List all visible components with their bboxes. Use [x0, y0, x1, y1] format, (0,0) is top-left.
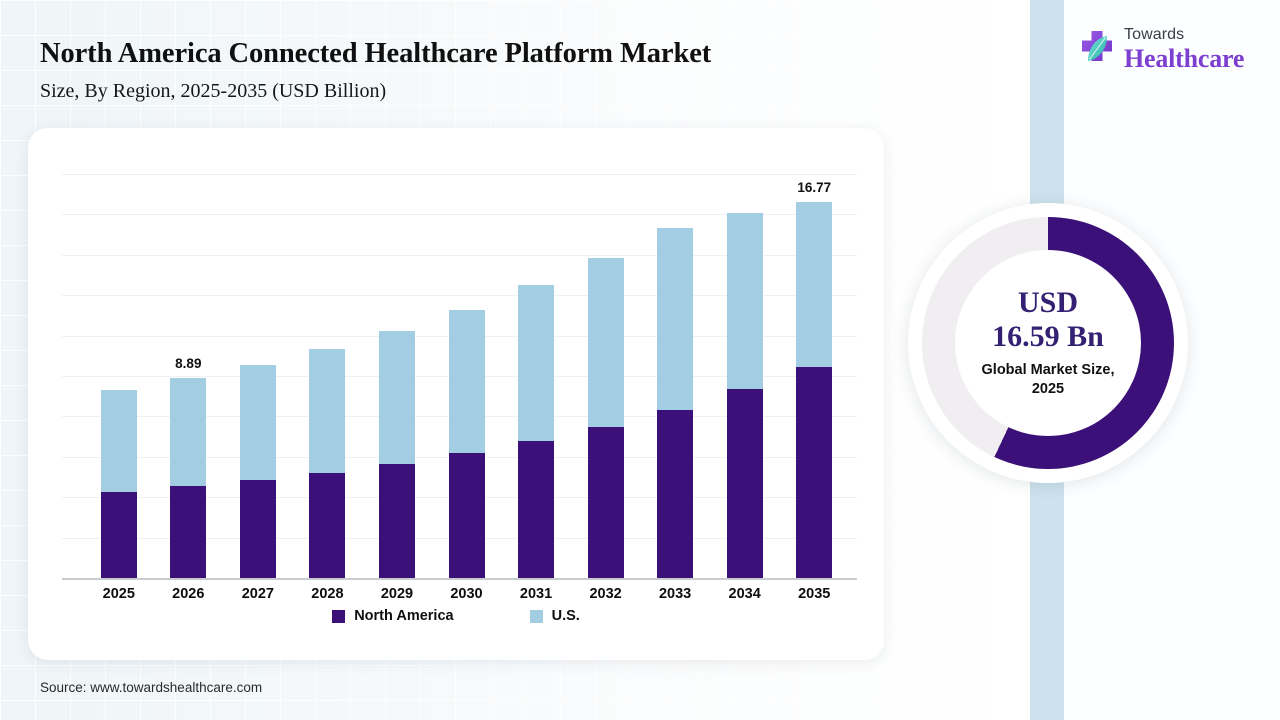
bar-segment-north-america[interactable] — [379, 464, 415, 578]
donut-value: 16.59 Bn — [992, 320, 1104, 355]
legend-item-north-america[interactable]: North America — [332, 608, 453, 624]
legend-swatch-icon — [530, 610, 543, 623]
bar-segment-us[interactable] — [657, 228, 693, 410]
bar-stack-2034[interactable] — [727, 213, 763, 578]
legend-label: U.S. — [552, 608, 580, 624]
bar-segment-us[interactable] — [101, 390, 137, 491]
legend-label: North America — [354, 608, 453, 624]
bar-segment-north-america[interactable] — [727, 389, 763, 578]
bar-segment-us[interactable] — [170, 378, 206, 486]
bar-segment-north-america[interactable] — [240, 480, 276, 578]
bar-stack-inner — [727, 213, 763, 578]
global-market-size-donut: USD 16.59 Bn Global Market Size, 2025 — [908, 203, 1188, 483]
donut-center-label: USD 16.59 Bn Global Market Size, 2025 — [955, 250, 1141, 436]
x-tick-2034: 2034 — [729, 586, 761, 602]
bar-segment-north-america[interactable] — [657, 410, 693, 578]
bar-stack-inner — [240, 365, 276, 578]
bar-stack-inner — [518, 285, 554, 578]
bar-segment-us[interactable] — [727, 213, 763, 389]
brand-logo: Towards Healthcare — [1074, 22, 1260, 78]
bar-segment-us[interactable] — [796, 202, 832, 367]
x-tick-2035: 2035 — [798, 586, 830, 602]
bar-segment-us[interactable] — [588, 258, 624, 426]
bar-stack-inner — [309, 349, 345, 578]
bar-segment-us[interactable] — [449, 310, 485, 454]
page-subtitle: Size, By Region, 2025-2035 (USD Billion) — [40, 80, 940, 103]
legend-swatch-icon — [332, 610, 345, 623]
logo-bottom-word: Healthcare — [1124, 45, 1244, 72]
bar-segment-north-america[interactable] — [518, 441, 554, 578]
bar-segment-north-america[interactable] — [170, 486, 206, 578]
bar-segment-us[interactable] — [309, 349, 345, 472]
logo-wordmark: Towards Healthcare — [1124, 27, 1244, 72]
bar-stack-2026[interactable]: 8.89 — [170, 378, 206, 578]
chart-legend: North AmericaU.S. — [28, 608, 884, 624]
x-axis-line — [62, 578, 857, 580]
x-tick-2030: 2030 — [450, 586, 482, 602]
bar-stack-2031[interactable] — [518, 285, 554, 578]
bar-stack-inner — [101, 390, 137, 578]
bar-stack-2030[interactable] — [449, 310, 485, 578]
bar-chart-plot-area: 8.8916.77 202520262027202820292030203120… — [62, 148, 857, 688]
x-tick-2029: 2029 — [381, 586, 413, 602]
donut-caption: Global Market Size, 2025 — [955, 361, 1141, 398]
gridline — [62, 174, 857, 175]
x-tick-2033: 2033 — [659, 586, 691, 602]
donut-currency: USD — [1018, 287, 1078, 319]
bar-value-label-2035: 16.77 — [797, 180, 831, 195]
x-tick-2025: 2025 — [103, 586, 135, 602]
source-note: Source: www.towardshealthcare.com — [40, 680, 262, 695]
x-tick-2028: 2028 — [311, 586, 343, 602]
bar-stack-inner — [170, 378, 206, 578]
x-tick-2027: 2027 — [242, 586, 274, 602]
bar-stack-inner — [657, 228, 693, 578]
chart-card: 8.8916.77 202520262027202820292030203120… — [28, 128, 884, 660]
bar-segment-us[interactable] — [379, 331, 415, 464]
bar-stack-inner — [379, 331, 415, 578]
bar-stack-inner — [796, 202, 832, 578]
bar-stack-2035[interactable]: 16.77 — [796, 202, 832, 578]
bar-stack-2032[interactable] — [588, 258, 624, 578]
bar-stack-2027[interactable] — [240, 365, 276, 578]
bar-segment-us[interactable] — [240, 365, 276, 480]
bar-stack-inner — [588, 258, 624, 578]
title-block: North America Connected Healthcare Platf… — [40, 38, 940, 103]
bar-stack-2025[interactable] — [101, 390, 137, 578]
x-tick-2026: 2026 — [172, 586, 204, 602]
bar-segment-north-america[interactable] — [449, 453, 485, 578]
bar-stack-2028[interactable] — [309, 349, 345, 578]
logo-top-word: Towards — [1124, 27, 1244, 43]
bar-stack-2033[interactable] — [657, 228, 693, 578]
bar-segment-north-america[interactable] — [101, 492, 137, 578]
bar-value-label-2026: 8.89 — [175, 356, 201, 371]
legend-item-us[interactable]: U.S. — [530, 608, 580, 624]
bar-segment-north-america[interactable] — [588, 427, 624, 579]
bar-segment-north-america[interactable] — [796, 367, 832, 578]
bar-segment-north-america[interactable] — [309, 473, 345, 578]
bar-stack-inner — [449, 310, 485, 578]
page-title: North America Connected Healthcare Platf… — [40, 38, 940, 70]
bar-segment-us[interactable] — [518, 285, 554, 441]
medical-cross-leaf-icon — [1074, 27, 1120, 73]
x-tick-2031: 2031 — [520, 586, 552, 602]
bar-stack-2029[interactable] — [379, 331, 415, 578]
x-tick-2032: 2032 — [589, 586, 621, 602]
